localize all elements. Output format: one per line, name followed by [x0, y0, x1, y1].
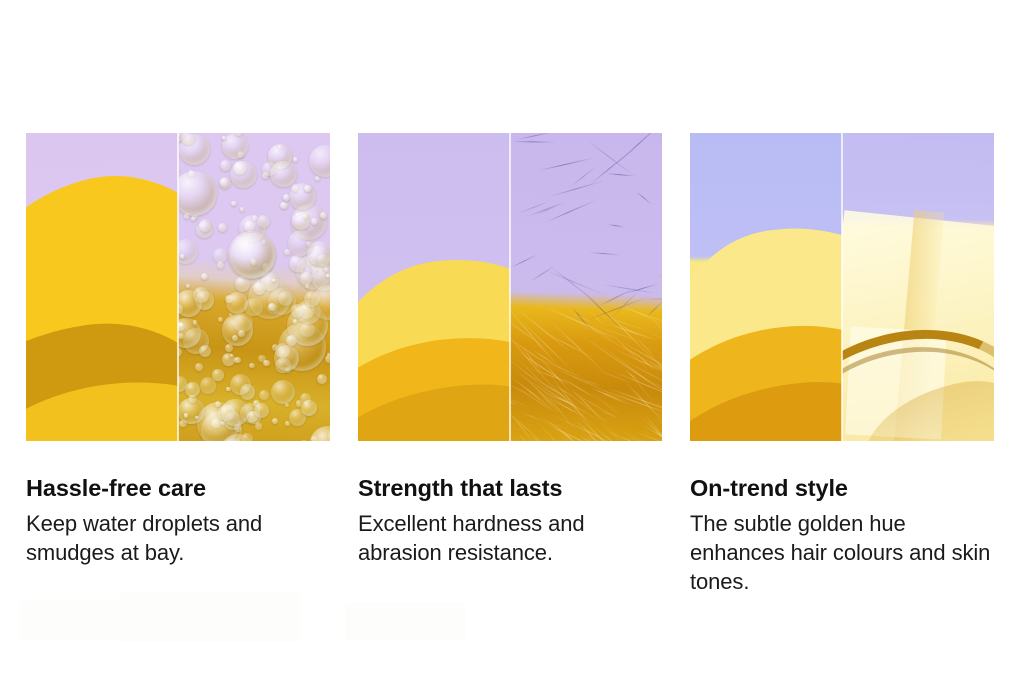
background-artifact	[120, 592, 300, 642]
water-droplet	[191, 216, 196, 221]
background-artifact	[345, 602, 465, 640]
water-droplet	[280, 202, 288, 210]
water-droplet	[315, 176, 320, 181]
water-droplet	[195, 363, 203, 371]
water-droplet	[289, 255, 306, 272]
water-droplet	[178, 239, 198, 265]
water-droplet	[188, 395, 197, 404]
panel-half-right-golden-lens	[842, 133, 994, 441]
feature-body-text: Keep water droplets and smudges at bay.	[26, 509, 330, 568]
scratch-line	[517, 133, 554, 140]
water-droplet	[220, 160, 232, 172]
scratch-line	[511, 254, 538, 268]
feature-grid: Hassle-free care Keep water droplets and…	[26, 133, 998, 597]
water-droplet	[272, 418, 278, 424]
water-droplet	[270, 161, 297, 188]
scratch-line	[616, 133, 662, 165]
water-droplet	[225, 344, 233, 352]
feature-body-text: Excellent hardness and abrasion resistan…	[358, 509, 662, 568]
scratch-line	[539, 158, 594, 171]
water-droplet	[317, 374, 327, 384]
water-droplet	[200, 377, 217, 394]
water-droplet	[293, 319, 297, 323]
panel-half-left-golden-bands	[690, 133, 842, 441]
feature-image-strength-that-lasts	[358, 133, 662, 441]
water-droplet	[309, 145, 330, 177]
scratch-line	[656, 239, 662, 280]
water-droplet	[217, 261, 225, 269]
water-droplet	[240, 207, 245, 212]
water-droplet	[272, 279, 275, 282]
water-droplet	[230, 161, 257, 188]
scratch-line	[589, 252, 621, 255]
feature-image-hassle-free-care	[26, 133, 330, 441]
water-droplet	[249, 363, 255, 369]
water-droplet	[218, 223, 227, 232]
scratch-line	[545, 199, 598, 223]
water-droplet	[283, 194, 290, 201]
panel-half-left-untreated	[26, 133, 178, 441]
scratch-line	[512, 141, 556, 143]
water-droplet	[271, 380, 295, 404]
water-droplet	[268, 303, 276, 311]
water-droplet	[263, 360, 270, 367]
water-droplet	[311, 218, 318, 225]
water-droplet	[284, 249, 291, 256]
water-droplet	[221, 399, 249, 427]
water-droplet	[291, 184, 299, 192]
feature-heading: Strength that lasts	[358, 476, 662, 502]
water-droplets-layer	[178, 133, 330, 441]
water-droplet	[309, 426, 330, 442]
water-droplet	[201, 273, 208, 280]
feature-image-on-trend-style	[690, 133, 994, 441]
panel-split-divider	[509, 133, 511, 441]
water-droplet	[178, 290, 202, 317]
scratch-line	[550, 179, 606, 196]
feature-body-text: The subtle golden hue enhances hair colo…	[690, 509, 994, 597]
page-root: Hassle-free care Keep water droplets and…	[0, 0, 1024, 683]
water-droplet	[241, 433, 252, 441]
water-droplet	[218, 317, 223, 322]
water-droplet	[300, 272, 312, 284]
water-droplet	[301, 400, 317, 416]
water-droplet	[234, 357, 240, 363]
panel-half-right-scratch-texture	[510, 133, 662, 441]
water-droplet	[235, 276, 251, 292]
water-droplet	[305, 284, 310, 289]
water-droplet	[274, 345, 300, 371]
water-droplet	[195, 416, 198, 419]
panel-split-divider	[841, 133, 843, 441]
water-droplet	[199, 345, 211, 357]
feature-heading: On-trend style	[690, 476, 994, 502]
scratch-line	[636, 191, 653, 205]
water-droplet	[293, 157, 298, 162]
water-droplet	[178, 171, 217, 216]
water-droplet	[259, 390, 270, 401]
feature-card-strength-that-lasts: Strength that lasts Excellent hardness a…	[358, 133, 662, 597]
water-droplet	[181, 133, 195, 145]
scratch-line	[517, 200, 550, 214]
scratch-line	[543, 269, 607, 297]
feature-card-on-trend-style: On-trend style The subtle golden hue enh…	[690, 133, 994, 597]
feature-card-hassle-free-care: Hassle-free care Keep water droplets and…	[26, 133, 330, 597]
water-droplet	[215, 401, 221, 407]
water-droplet	[325, 355, 330, 363]
scratch-lines-layer	[510, 133, 662, 441]
water-droplet	[186, 284, 190, 288]
water-droplet	[231, 201, 237, 207]
panel-split-divider	[177, 133, 179, 441]
water-droplet	[230, 354, 233, 357]
feature-heading: Hassle-free care	[26, 476, 330, 502]
water-droplet	[193, 320, 198, 325]
water-droplet	[184, 413, 189, 418]
panel-half-right-water-droplets	[178, 133, 330, 441]
water-droplet	[178, 322, 185, 331]
panel-half-left-smooth-surface	[358, 133, 510, 441]
fibre-streak	[559, 333, 577, 345]
water-droplet	[178, 333, 184, 339]
scratch-line	[607, 224, 624, 228]
scratch-line	[659, 134, 662, 168]
water-droplet	[222, 314, 254, 346]
water-droplet	[285, 421, 289, 425]
